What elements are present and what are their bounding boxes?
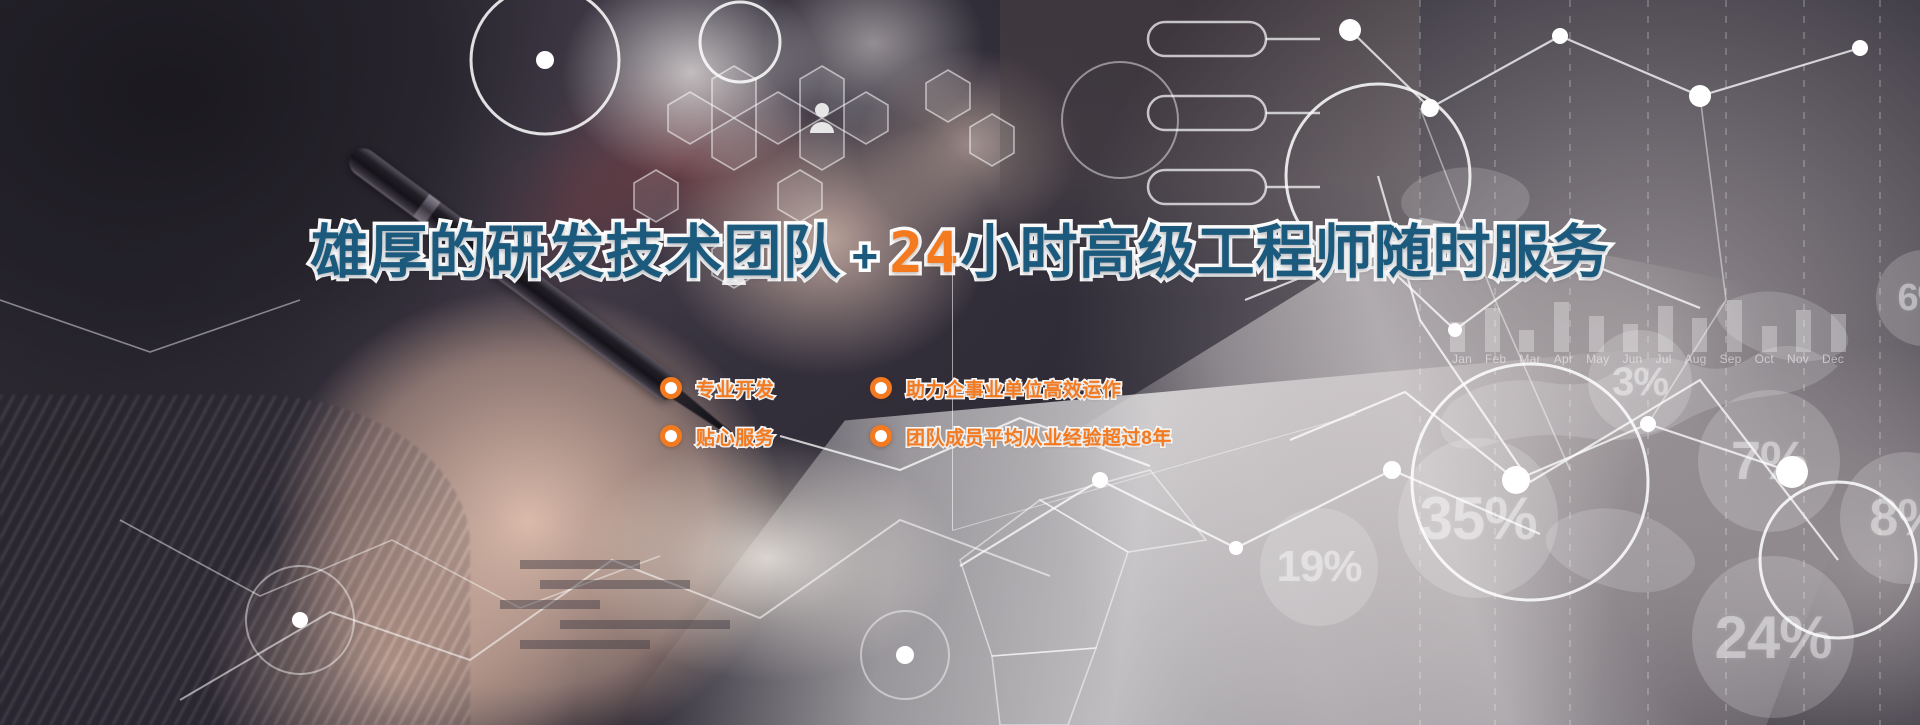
circle-bullet-icon bbox=[660, 377, 682, 399]
headline-part-one: 雄厚的研发技术团队 bbox=[310, 220, 841, 285]
percent-bubble: 3% bbox=[1588, 330, 1692, 434]
percent-bubble: 19% bbox=[1260, 508, 1378, 626]
headline-plus-sign: + bbox=[841, 230, 889, 282]
headline-number: 24 bbox=[889, 221, 960, 286]
percent-bubble: 7% bbox=[1698, 390, 1840, 532]
circle-bullet-icon bbox=[870, 425, 892, 447]
month-label: Dec bbox=[1822, 352, 1844, 366]
percent-bubble: 35% bbox=[1398, 438, 1558, 598]
month-label: Mar bbox=[1519, 352, 1540, 366]
feature-label: 助力企事业单位高效运作 bbox=[906, 375, 1122, 402]
headline-part-two: 小时高级工程师随时服务 bbox=[961, 220, 1610, 285]
month-label: Nov bbox=[1787, 352, 1809, 366]
feature-item-0[interactable]: 专业开发 bbox=[660, 364, 870, 412]
feature-label: 专业开发 bbox=[696, 375, 774, 402]
circle-bullet-icon bbox=[660, 425, 682, 447]
feature-item-2[interactable]: 贴心服务 bbox=[660, 412, 870, 460]
percent-bubble: 24% bbox=[1692, 556, 1854, 718]
circle-bullet-icon bbox=[870, 377, 892, 399]
feature-label: 团队成员平均从业经验超过8年 bbox=[906, 423, 1172, 450]
feature-label: 贴心服务 bbox=[696, 423, 774, 450]
month-label: Oct bbox=[1755, 352, 1774, 366]
month-label: Feb bbox=[1485, 352, 1506, 366]
hero-banner: Jan Feb Mar Apr May Jun Jul Aug Sep Oct … bbox=[0, 0, 1920, 725]
banner-headline: 雄厚的研发技术团队+24小时高级工程师随时服务 bbox=[0, 224, 1920, 282]
feature-item-1[interactable]: 助力企事业单位高效运作 bbox=[870, 364, 1172, 412]
feature-item-3[interactable]: 团队成员平均从业经验超过8年 bbox=[870, 412, 1172, 460]
month-label: Apr bbox=[1554, 352, 1573, 366]
month-label: Sep bbox=[1720, 352, 1742, 366]
month-label: Jan bbox=[1452, 352, 1472, 366]
feature-list: 专业开发 助力企事业单位高效运作 贴心服务 团队成员平均从业经验超过8年 bbox=[660, 364, 1172, 460]
